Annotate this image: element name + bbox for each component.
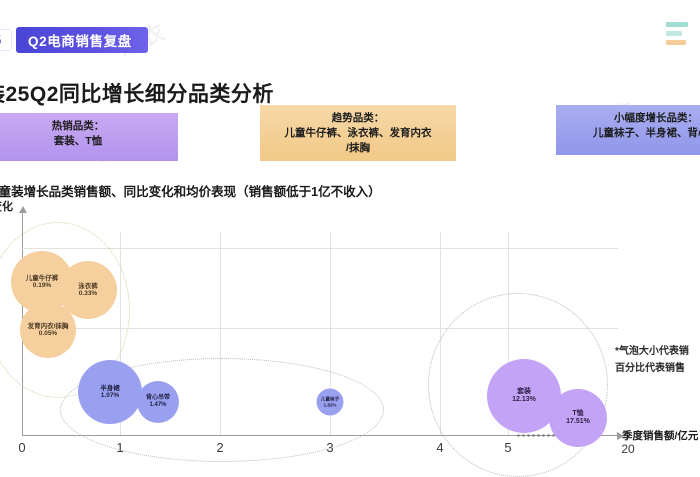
gridline-horizontal xyxy=(22,248,618,249)
bubble-value: 1.47% xyxy=(149,402,166,409)
category-box-small-growth-body: 儿童袜子、半身裙、背心吊 xyxy=(564,126,700,141)
category-box-small-growth-title: 小幅度增长品类： xyxy=(564,111,700,126)
chart-note-line2: 百分比代表销售 xyxy=(615,360,689,377)
category-box-trend-body: 儿童牛仔裤、泳衣裤、发育内衣 xyxy=(268,126,448,141)
bubble-label: 发育内衣/抹胸 xyxy=(28,323,69,330)
bubble-value: 17.51% xyxy=(566,418,590,426)
category-box-small-growth: 小幅度增长品类： 儿童袜子、半身裙、背心吊 xyxy=(556,105,700,155)
bubble-label: T恤 xyxy=(572,410,583,418)
section-badge[interactable]: 5 Q2电商销售复盘 xyxy=(0,27,148,53)
bubble-label: 背心吊带 xyxy=(146,395,170,402)
category-box-trend-title: 趋势品类： xyxy=(268,111,448,126)
x-tick-4: 4 xyxy=(436,440,443,455)
bubble-tshirt[interactable]: T恤 17.51% xyxy=(549,389,607,447)
bubble-developing-underwear[interactable]: 发育内衣/抹胸 0.05% xyxy=(20,302,76,358)
bubble-value: 0.05% xyxy=(39,330,57,337)
x-axis-label: 季度销售额/亿元 xyxy=(622,428,698,443)
badge-number: 5 xyxy=(0,29,12,51)
bubble-value: 0.33% xyxy=(79,290,97,297)
category-box-hot-body: 套装、T恤 xyxy=(0,134,170,149)
category-box-hot-title: 热销品类： xyxy=(0,119,170,134)
bubble-camisole[interactable]: 背心吊带 1.47% xyxy=(137,381,179,423)
y-axis-label: 比变化 xyxy=(0,198,13,214)
page-title: 装25Q2同比增长细分品类分析 xyxy=(0,78,274,108)
category-box-trend-body2: /抹胸 xyxy=(268,141,448,156)
bubble-value: 12.13% xyxy=(512,396,536,404)
category-box-hot: 热销品类： 套装、T恤 xyxy=(0,113,178,161)
chart-subtitle: Q2童装增长品类销售额、同比变化和均价表现（销售额低于1亿不收入） xyxy=(0,181,381,200)
bubble-chart: 比变化 季度销售额/亿元 0 1 2 3 4 5 20 儿童牛仔裤 0.19% xyxy=(0,200,700,470)
bubble-value: 1.07% xyxy=(101,392,119,399)
badge-title: Q2电商销售复盘 xyxy=(16,27,148,53)
x-tick-20: 20 xyxy=(621,442,634,456)
bubble-label: 儿童牛仔裤 xyxy=(26,275,59,282)
chart-note: *气泡大小代表销 百分比代表销售 xyxy=(615,343,689,377)
x-tick-0: 0 xyxy=(18,440,25,455)
bubble-value: 1.82% xyxy=(323,402,336,407)
chart-note-line1: *气泡大小代表销 xyxy=(615,343,689,360)
decorative-marks xyxy=(666,22,692,56)
bubble-skirt[interactable]: 半身裙 1.07% xyxy=(78,360,142,424)
bubble-label: 半身裙 xyxy=(100,385,120,392)
bubble-label: 泳衣裤 xyxy=(78,283,98,290)
bubble-children-socks[interactable]: 儿童袜子 1.82% xyxy=(317,389,344,416)
category-box-trend: 趋势品类： 儿童牛仔裤、泳衣裤、发育内衣 /抹胸 xyxy=(260,105,456,161)
bubble-value: 0.19% xyxy=(33,282,51,289)
bubble-label: 套装 xyxy=(517,388,531,396)
slide-root: 知衣 知衣 知衣 5 Q2电商销售复盘 装25Q2同比增长细分品类分析 热销品类… xyxy=(0,0,700,470)
